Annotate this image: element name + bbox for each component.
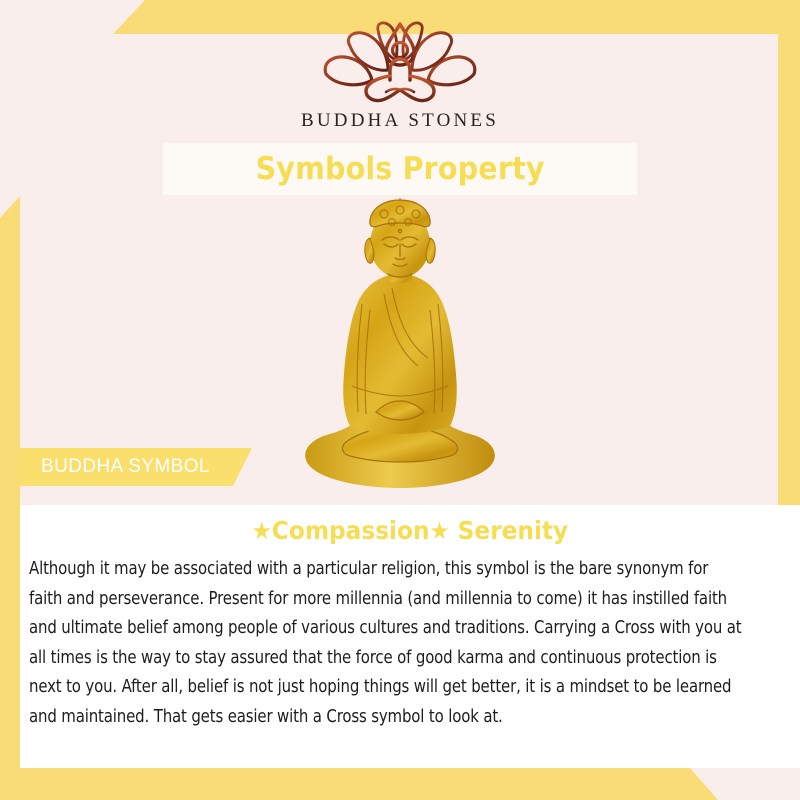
poster-canvas: BUDDHA STONES Symbols Property (0, 0, 800, 800)
lotus-meditation-icon (320, 18, 480, 106)
brand-wordmark: BUDDHA STONES (0, 110, 800, 132)
content-subtitle: ★Compassion★ Serenity (47, 516, 772, 545)
golden-seated-buddha-icon (300, 198, 500, 488)
brand-logo: BUDDHA STONES (0, 18, 800, 132)
subtitle-word-serenity: Serenity (458, 516, 569, 545)
content-panel: ★Compassion★ Serenity Although it may be… (20, 505, 800, 768)
buddha-symbol-tag: BUDDHA SYMBOL (20, 448, 252, 486)
title-band: Symbols Property (163, 143, 637, 195)
star-icon-two: ★ (430, 517, 450, 545)
subtitle-word-compassion: Compassion (272, 516, 430, 545)
frame-bottom-accent (0, 768, 800, 800)
star-icon-one: ★ (252, 517, 272, 545)
content-body-text: Although it may be associated with a par… (29, 555, 743, 732)
page-title: Symbols Property (255, 151, 544, 187)
buddha-symbol-tag-label: BUDDHA SYMBOL (20, 456, 210, 478)
